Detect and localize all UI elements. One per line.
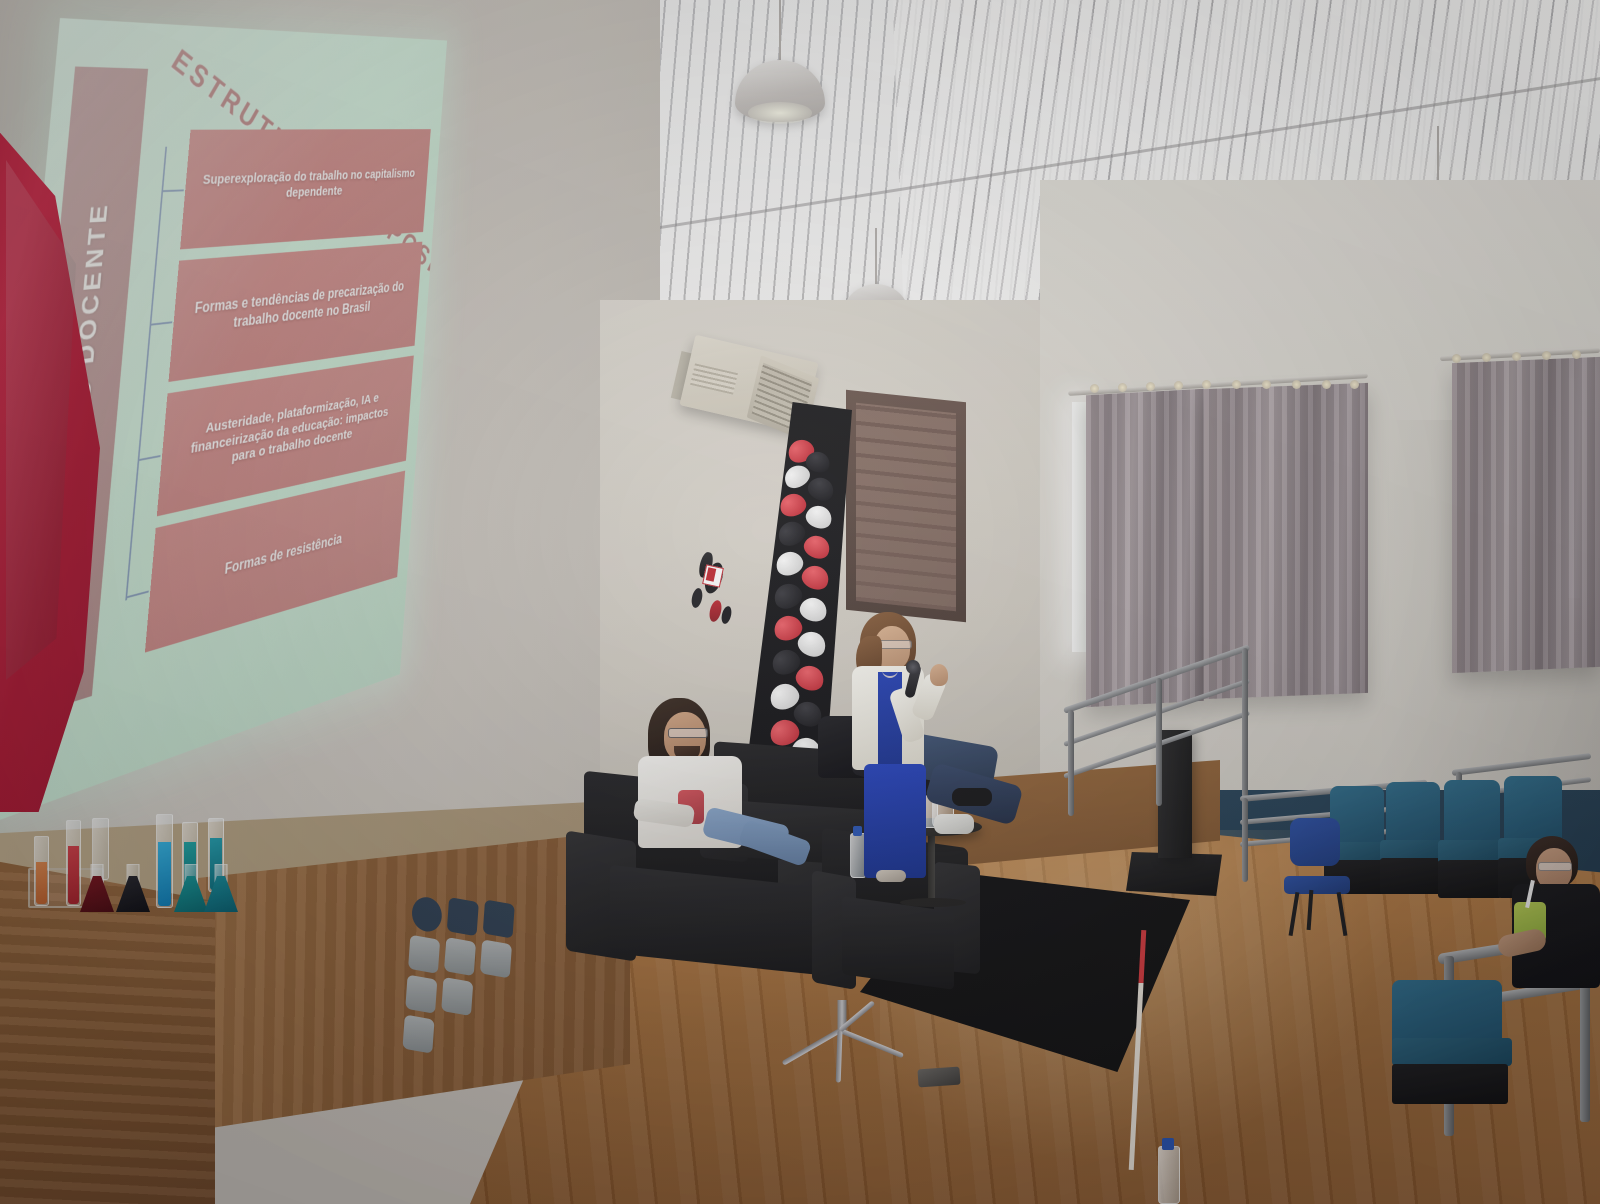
audience-member [1504, 836, 1600, 1006]
speaker-hand [930, 664, 948, 686]
speaker-presenter [840, 612, 960, 880]
lab-glassware-group [18, 812, 258, 932]
side-table-foot [900, 898, 966, 907]
auditorium-seat-front-row[interactable] [1392, 980, 1512, 1100]
erlenmeyer-teal [174, 864, 208, 912]
slide-item-1: Superexploração do trabalho no capitalis… [180, 129, 431, 249]
floor-outlet [917, 1067, 960, 1088]
speaker-glasses [878, 640, 912, 649]
erlenmeyer-teal-2 [204, 864, 238, 912]
office-chair-back[interactable] [1290, 818, 1340, 866]
window-daylight-1 [1072, 402, 1086, 652]
curtain-left-panel [1086, 389, 1204, 708]
if-institutional-logo [400, 891, 521, 1109]
water-bottle-4 [1158, 1138, 1178, 1204]
seated-panelist [620, 698, 810, 868]
microphone-head [906, 660, 920, 674]
audience-glasses [1538, 862, 1572, 871]
auditorium-seat-2[interactable] [1380, 782, 1446, 894]
test-tube-orange [34, 836, 49, 906]
graduated-cylinder-red [66, 820, 81, 906]
speaker-shoe [876, 870, 906, 882]
erlenmeyer-dark-red [80, 864, 114, 912]
erlenmeyer-dark [116, 864, 150, 912]
graduated-cylinder-blue [156, 814, 173, 908]
pendant-lamp-1 [735, 0, 825, 140]
auditorium-seat-3[interactable] [1438, 780, 1506, 896]
chair-star-base [772, 1000, 912, 1072]
curtain-grommets-1 [1072, 380, 1372, 394]
curtain-far-panel [1452, 357, 1600, 673]
speaker-blue-trousers [864, 764, 926, 878]
panelist-glasses [668, 728, 708, 738]
back-window-louvers [856, 403, 956, 612]
auditorium-photo-scene: ESTRUTURA DA EXPOSIÇÃO TRABALHO DOCENTE … [0, 0, 1600, 1204]
curtain-grommets-2 [1442, 350, 1600, 362]
